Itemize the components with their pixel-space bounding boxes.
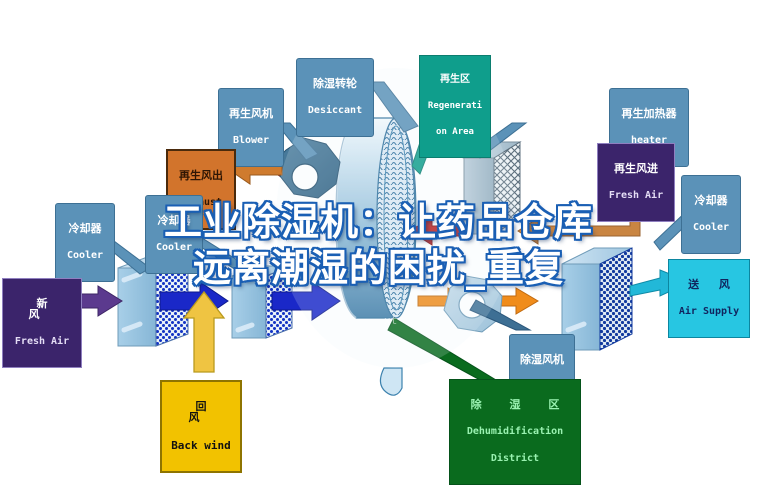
label-dehumidification-district[interactable]: 除 湿 区 Dehumidification District	[449, 379, 581, 485]
label-back-wind[interactable]: 回 风 Back wind	[160, 380, 242, 473]
label-regeneration-blower-cn: 再生风机	[223, 108, 279, 119]
label-regeneration-blower-en: Blower	[223, 136, 279, 146]
label-cooler-right-en: Cooler	[686, 223, 736, 233]
label-fresh-air-left-en: Fresh Air	[8, 337, 76, 347]
label-regeneration-fresh-air-en: Fresh Air	[603, 191, 669, 201]
label-cooler-left-1[interactable]: 冷却器 Cooler	[55, 203, 115, 282]
label-regeneration-area[interactable]: 再生区 Regenerati on Area	[419, 55, 491, 158]
label-fresh-air-left-cn: 新 风	[8, 298, 76, 321]
label-air-supply[interactable]: 送 风 Air Supply	[668, 259, 750, 338]
label-regeneration-fresh-air-cn: 再生风进	[603, 163, 669, 174]
label-cooler-left-2[interactable]: 冷却器 Cooler	[145, 195, 203, 274]
label-regeneration-area-en2: on Area	[424, 128, 486, 137]
label-dehumidification-blower-cn: 除湿风机	[514, 354, 570, 365]
label-desiccant-wheel-cn: 除湿转轮	[301, 78, 369, 89]
label-desiccant-wheel[interactable]: 除湿转轮 Desiccant	[296, 58, 374, 137]
label-back-wind-en: Back wind	[168, 440, 234, 451]
label-cooler-left-2-cn: 冷却器	[150, 215, 198, 226]
label-cooler-right-cn: 冷却器	[686, 195, 736, 206]
label-fresh-air-left[interactable]: 新 风 Fresh Air	[2, 278, 82, 368]
label-regeneration-fresh-air[interactable]: 再生风进 Fresh Air	[597, 143, 675, 222]
label-dehumidification-district-en1: Dehumidification	[456, 427, 574, 437]
label-regeneration-heater-cn: 再生加热器	[614, 108, 684, 119]
label-regeneration-area-en1: Regenerati	[424, 102, 486, 111]
label-exhaust-cn: 再生风出	[172, 170, 230, 181]
label-air-supply-cn: 送 风	[673, 279, 745, 290]
label-desiccant-wheel-en: Desiccant	[301, 106, 369, 116]
label-back-wind-cn: 回 风	[168, 401, 234, 424]
label-regeneration-area-cn: 再生区	[424, 75, 486, 85]
label-cooler-left-1-en: Cooler	[60, 251, 110, 261]
label-cooler-left-2-en: Cooler	[150, 243, 198, 253]
label-cooler-right[interactable]: 冷却器 Cooler	[681, 175, 741, 254]
label-dehumidification-district-en2: District	[456, 454, 574, 464]
label-air-supply-en: Air Supply	[673, 307, 745, 317]
label-dehumidification-district-cn: 除 湿 区	[456, 399, 574, 410]
diagram-canvas: 除湿转轮 Desiccant 再生风机 Blower 再生区 Regenerat…	[0, 0, 757, 488]
label-cooler-left-1-cn: 冷却器	[60, 223, 110, 234]
